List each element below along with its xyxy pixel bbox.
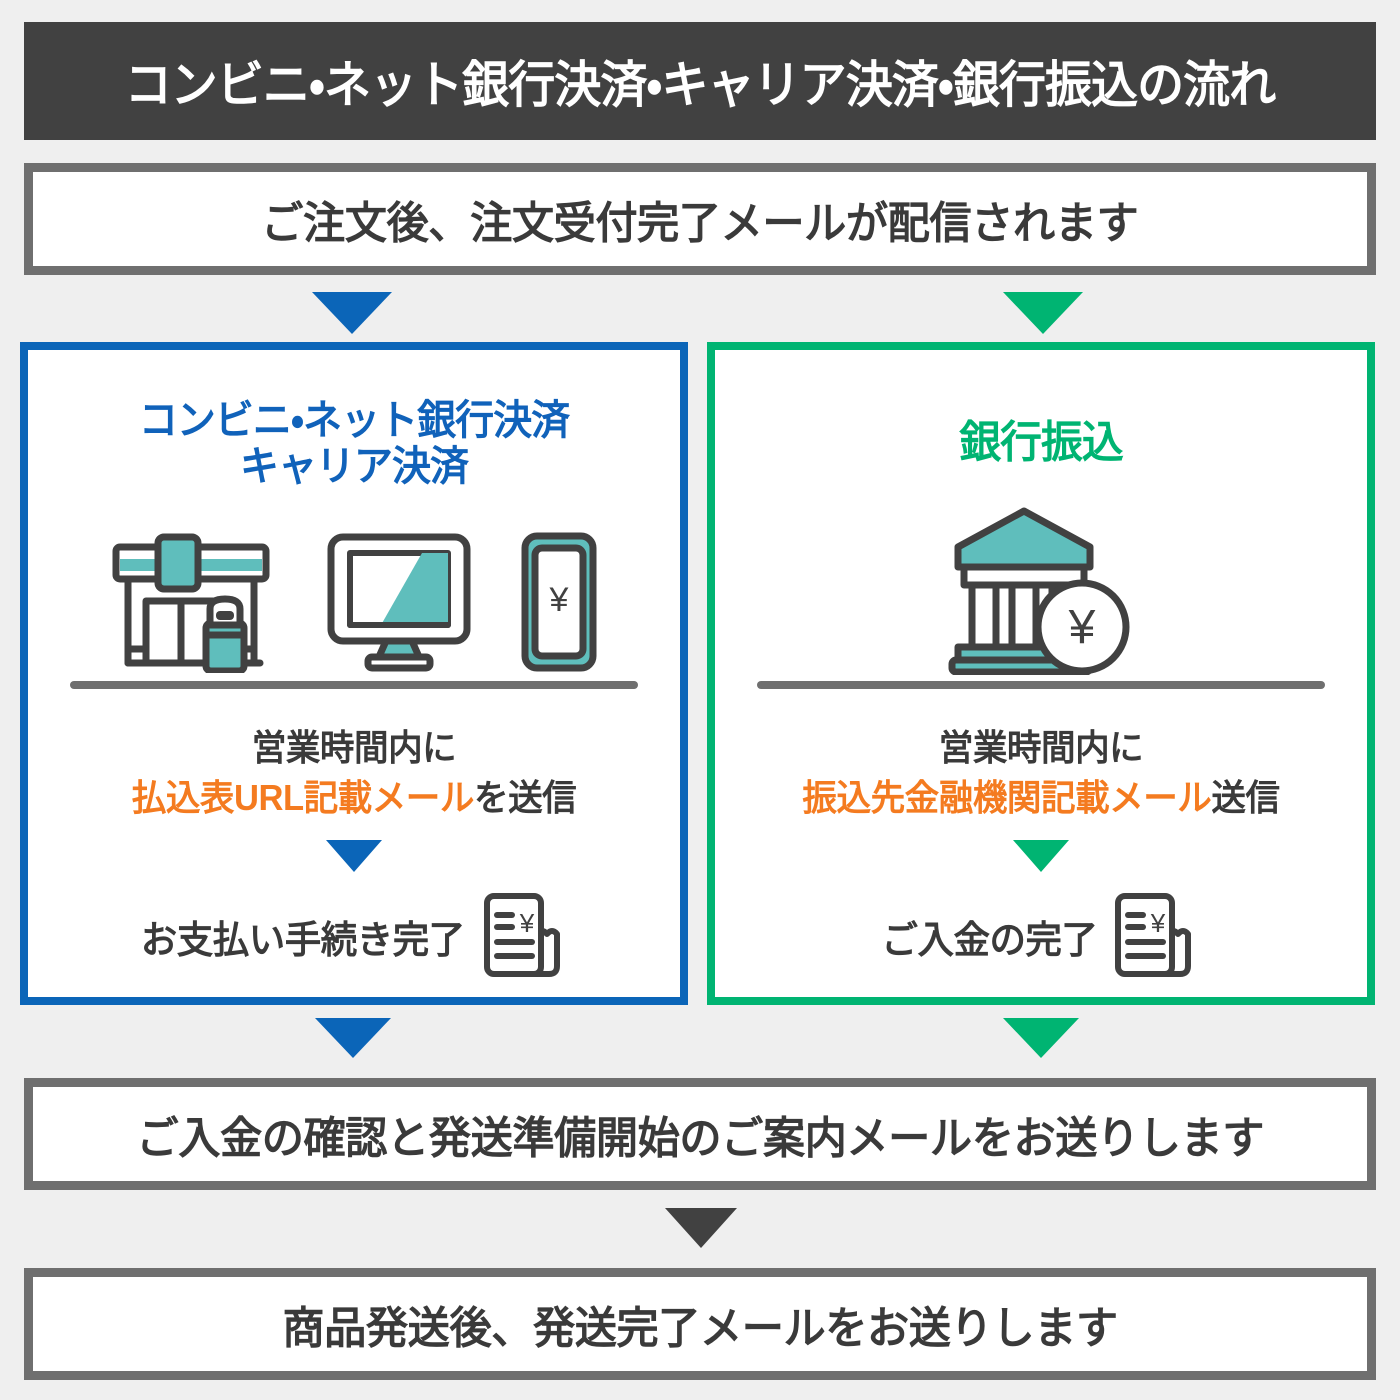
- bank-inner-arrow-wrap: [715, 840, 1367, 872]
- svg-text:¥: ¥: [1149, 908, 1165, 938]
- svg-text:¥: ¥: [549, 581, 569, 619]
- svg-text:¥: ¥: [519, 908, 535, 938]
- panel-conveni-title-line1: コンビニ・ネット銀行決済: [139, 397, 569, 443]
- bank-final-row: ご入金の完了 ¥: [715, 886, 1367, 986]
- smartphone-yen-icon: ¥: [520, 531, 598, 673]
- bank-building-yen-icon: ¥: [946, 505, 1136, 675]
- conveni-divider: [70, 681, 638, 689]
- bank-final-label: ご入金の完了: [882, 909, 1098, 964]
- step-order-received-text: ご注文後、注文受付完了メールが配信されます: [262, 187, 1139, 251]
- step-payment-confirmed-box: ご入金の確認と発送準備開始のご案内メールをお送りします: [24, 1078, 1376, 1190]
- invoice-yen-icon: ¥: [1109, 890, 1205, 982]
- conveni-note-highlight: 払込表URL記載メール: [132, 777, 474, 818]
- step-order-received-box: ご注文後、注文受付完了メールが配信されます: [24, 163, 1376, 275]
- page-title: コンビニ・ネット銀行決済・キャリア決済・銀行振込の流れ: [125, 45, 1276, 117]
- panel-conveni-title: コンビニ・ネット銀行決済 キャリア決済: [44, 398, 663, 490]
- svg-text:¥: ¥: [1068, 601, 1096, 654]
- invoice-yen-icon: ¥: [478, 890, 574, 982]
- step-payment-confirmed-text: ご入金の確認と発送準備開始のご案内メールをお送りします: [136, 1102, 1264, 1166]
- down-arrow-icon-bank-out: [1003, 1018, 1079, 1058]
- conveni-note-line1: 営業時間内に: [252, 727, 456, 768]
- desktop-monitor-icon: [326, 531, 472, 673]
- bank-icon-row: ¥: [715, 500, 1367, 675]
- down-arrow-icon-conveni-out: [315, 1018, 391, 1058]
- step-shipped-text: 商品発送後、発送完了メールをお送りします: [282, 1292, 1117, 1356]
- panel-bank-title: 銀行振込: [731, 418, 1350, 467]
- conveni-inner-arrow-wrap: [28, 840, 680, 872]
- conveni-note-suffix: を送信: [474, 777, 576, 818]
- bank-note-line1: 営業時間内に: [939, 727, 1143, 768]
- down-arrow-icon-confirm-to-ship: [665, 1208, 737, 1248]
- bank-note: 営業時間内に 振込先金融機関記載メール送信: [728, 723, 1354, 822]
- conveni-note: 営業時間内に 払込表URL記載メールを送信: [41, 723, 667, 822]
- conveni-final-row: お支払い手続き完了 ¥: [28, 886, 680, 986]
- bank-note-highlight: 振込先金融機関記載メール: [802, 777, 1211, 818]
- down-arrow-icon-bank-inner: [1013, 840, 1069, 872]
- bank-note-suffix: 送信: [1211, 777, 1279, 818]
- down-arrow-icon-to-conveni: [312, 292, 392, 334]
- panel-bank-title-line1: 銀行振込: [959, 418, 1122, 467]
- panel-bank-transfer: 銀行振込: [707, 342, 1375, 1005]
- down-arrow-icon-to-bank: [1003, 292, 1083, 334]
- convenience-store-icon: [110, 531, 278, 673]
- diagram-header: コンビニ・ネット銀行決済・キャリア決済・銀行振込の流れ: [24, 22, 1376, 140]
- payment-flow-diagram: コンビニ・ネット銀行決済・キャリア決済・銀行振込の流れ ご注文後、注文受付完了メ…: [0, 0, 1400, 1400]
- conveni-final-label: お支払い手続き完了: [141, 909, 465, 964]
- panel-convenience-payment: コンビニ・ネット銀行決済 キャリア決済: [20, 342, 688, 1005]
- conveni-icon-row: ¥: [28, 528, 680, 673]
- step-shipped-box: 商品発送後、発送完了メールをお送りします: [24, 1268, 1376, 1380]
- bank-divider: [757, 681, 1325, 689]
- down-arrow-icon-conveni-inner: [326, 840, 382, 872]
- panel-conveni-title-line2: キャリア決済: [240, 443, 468, 489]
